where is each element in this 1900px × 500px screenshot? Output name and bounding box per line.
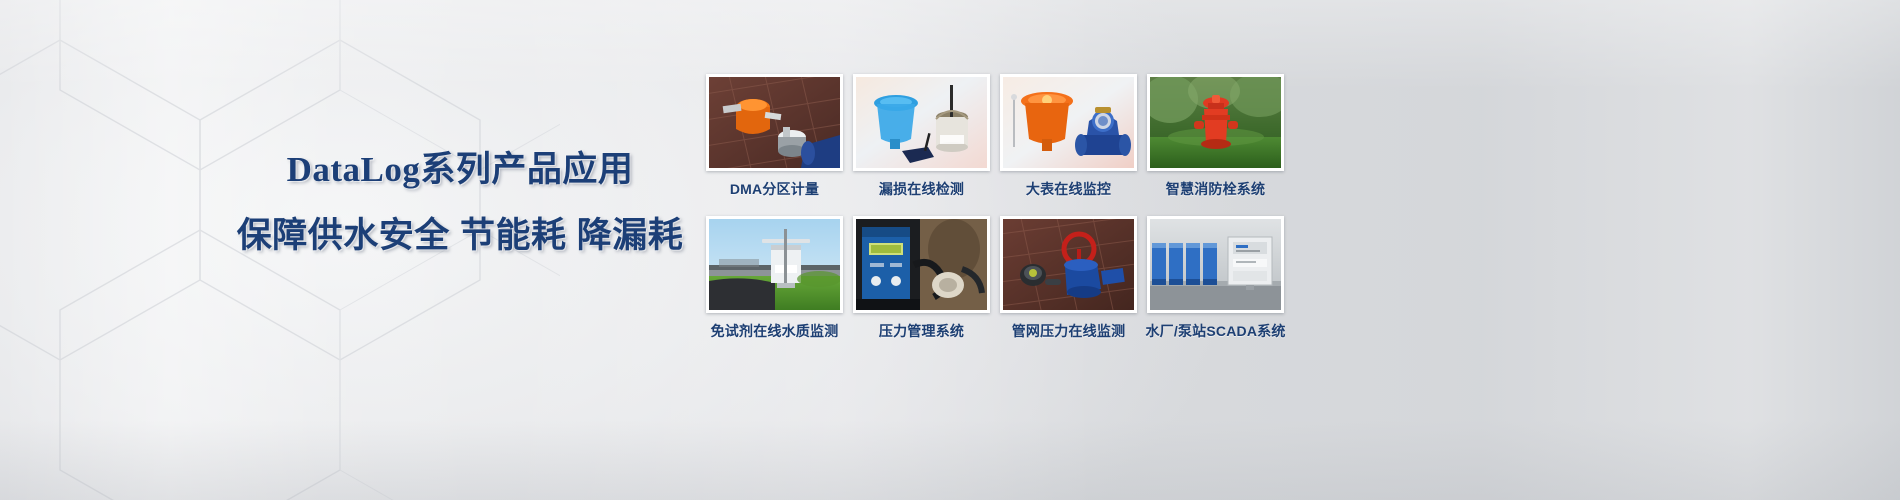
product-caption: 免试剂在线水质监测 <box>711 322 839 340</box>
thumbnail-row-2: 免试剂在线水质监测 <box>706 216 1286 352</box>
product-caption: 水厂/泵站SCADA系统 <box>1145 322 1285 340</box>
orange-dome-logger-and-blue-water-meter-image <box>1003 77 1134 168</box>
product-application-banner: DataLog系列产品应用 保障供水安全 节能耗 降漏耗 <box>0 0 1900 500</box>
thumbnail-frame[interactable] <box>853 216 990 313</box>
product-caption: DMA分区计量 <box>730 180 819 198</box>
outdoor-water-quality-monitoring-cabinet-image <box>709 219 840 310</box>
pump-station-control-cabinet-row-image <box>1150 219 1281 310</box>
product-caption: 大表在线监控 <box>1026 180 1111 198</box>
product-card-scada-system[interactable]: 水厂/泵站SCADA系统 <box>1147 216 1284 352</box>
product-card-leakage-detection[interactable]: 漏损在线检测 <box>853 74 990 210</box>
product-card-reagent-free-water-quality[interactable]: 免试剂在线水质监测 <box>706 216 843 352</box>
product-caption: 智慧消防栓系统 <box>1166 180 1265 198</box>
thumbnail-frame[interactable] <box>1000 74 1137 171</box>
red-fire-hydrant-in-green-grass-image <box>1150 77 1281 168</box>
headline-primary: DataLog系列产品应用 <box>225 148 695 192</box>
product-card-large-meter-monitoring[interactable]: 大表在线监控 <box>1000 74 1137 210</box>
thumbnail-frame[interactable] <box>1147 216 1284 313</box>
product-caption: 管网压力在线监测 <box>1012 322 1126 340</box>
blue-leak-sensor-and-bucket-logger-on-white-image <box>856 77 987 168</box>
product-card-network-pressure-monitoring[interactable]: 管网压力在线监测 <box>1000 216 1137 352</box>
thumbnail-frame[interactable] <box>706 216 843 313</box>
thumbnail-frame[interactable] <box>1147 74 1284 171</box>
blue-valve-with-gauge-on-brick-paving-image <box>1003 219 1134 310</box>
blue-pressure-control-panel-in-chamber-image <box>856 219 987 310</box>
thumbnail-frame[interactable] <box>1000 216 1137 313</box>
headline-block: DataLog系列产品应用 保障供水安全 节能耗 降漏耗 <box>225 148 695 258</box>
orange-logger-and-blue-valve-on-brick-paving-image <box>709 77 840 168</box>
thumbnail-row-1: DMA分区计量 <box>706 74 1286 210</box>
thumbnail-frame[interactable] <box>706 74 843 171</box>
headline-secondary: 保障供水安全 节能耗 降漏耗 <box>225 214 695 258</box>
product-card-smart-hydrant-system[interactable]: 智慧消防栓系统 <box>1147 74 1284 210</box>
product-caption: 漏损在线检测 <box>879 180 964 198</box>
product-thumbnail-grid: DMA分区计量 <box>706 74 1286 358</box>
product-caption: 压力管理系统 <box>879 322 964 340</box>
product-card-pressure-management-system[interactable]: 压力管理系统 <box>853 216 990 352</box>
thumbnail-frame[interactable] <box>853 74 990 171</box>
product-card-dma-metering[interactable]: DMA分区计量 <box>706 74 843 210</box>
